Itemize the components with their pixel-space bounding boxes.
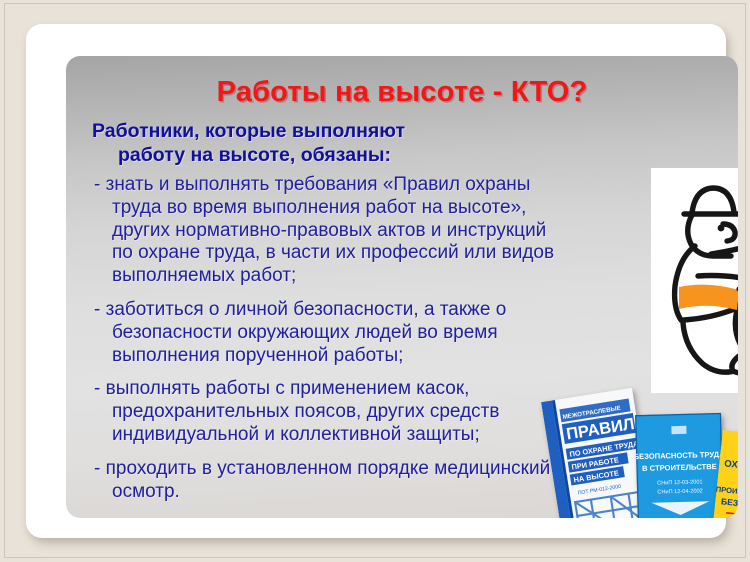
eye [718,225,725,232]
list-item: - заботиться о личной безопасности, а та… [82,299,562,367]
slide: Работы на высоте - КТО? Работники, котор… [0,0,750,562]
worker-climbing-ladder-illustration [651,168,738,393]
obligations-list: - знать и выполнять требования «Правил о… [82,174,562,503]
book-construction: БЕЗОПАСНОСТЬ ТРУДА В СТРОИТЕЛЬСТВЕ СНиП … [635,413,725,518]
content-card: Работы на высоте - КТО? Работники, котор… [26,24,726,538]
list-item: - выполнять работы с применением касок, … [82,378,562,446]
book-construction-cover: БЕЗОПАСНОСТЬ ТРУДА В СТРОИТЕЛЬСТВЕ СНиП … [635,413,725,518]
subtitle-line-1: Работники, которые выполняют [92,120,405,142]
publisher-mark [671,426,686,434]
content-panel: Работы на высоте - КТО? Работники, котор… [66,56,738,518]
list-item: - проходить в установленном порядке меди… [82,458,562,504]
worker-ladder-svg [651,168,738,393]
book-construction-code-1: СНиП 12-03-2001 [657,479,703,486]
book-construction-code-2: СНиП 12-04-2002 [657,488,703,495]
subtitle: Работники, которые выполняют работу на в… [92,120,522,168]
subtitle-line-2: работу на высоте, обязаны: [92,144,522,168]
list-item: - знать и выполнять требования «Правил о… [82,174,562,288]
page-title: Работы на высоте - КТО? [66,76,738,109]
